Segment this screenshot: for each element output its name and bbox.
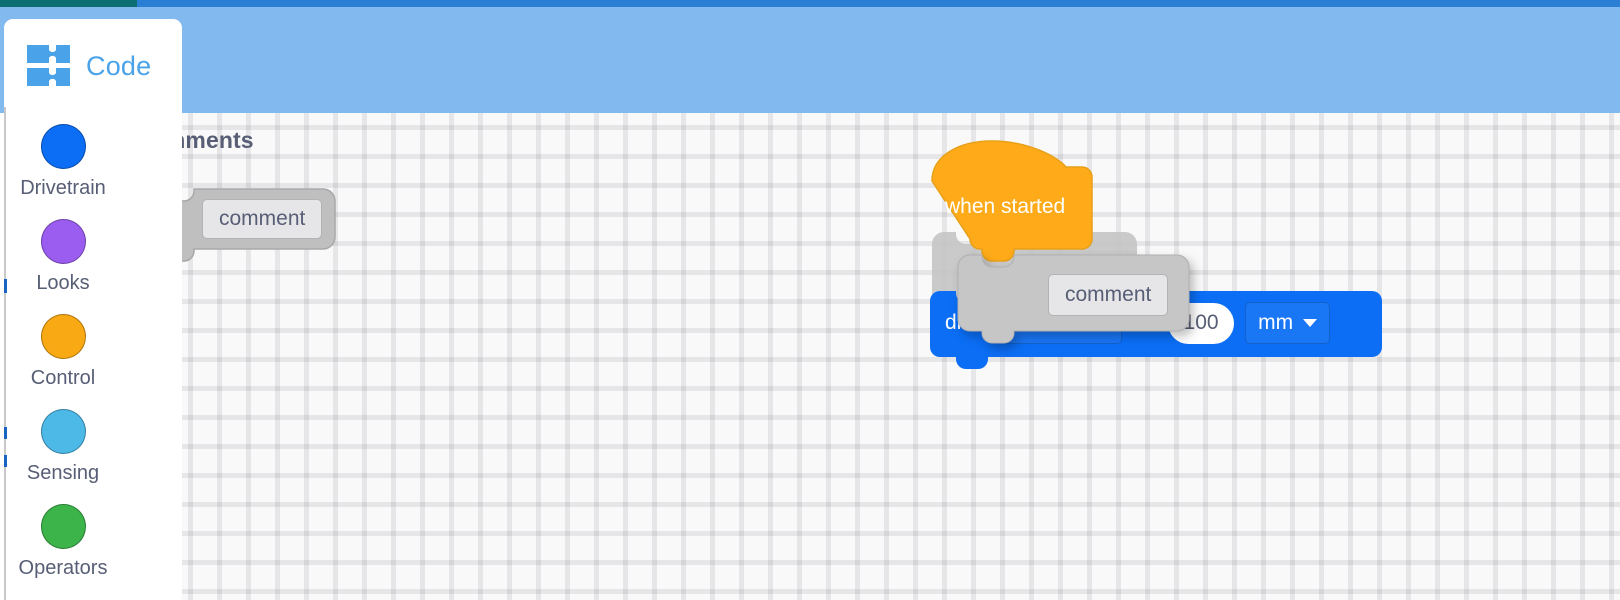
blocks-workspace[interactable]: Comments comment when started [118, 113, 1620, 600]
sidebar-item-label: Operators [19, 557, 108, 579]
app-header-bar [0, 6, 1620, 113]
chevron-down-icon [1303, 319, 1317, 327]
unit-value: mm [1258, 311, 1293, 335]
tab-code[interactable]: Code [4, 19, 182, 113]
sidebar-item-sensing[interactable]: Sensing [4, 409, 122, 504]
sidebar-item-label: Sensing [27, 462, 99, 484]
comment-text-field[interactable]: comment [202, 199, 322, 239]
block-when-started[interactable]: when started [930, 137, 1084, 247]
category-dot-icon [41, 219, 86, 264]
loading-progress-bar [0, 0, 137, 7]
sidebar-item-drivetrain[interactable]: Drivetrain [4, 124, 122, 219]
loading-progress-track [0, 0, 1620, 7]
sidebar-item-label: Control [31, 367, 95, 389]
category-list: Drivetrain Looks Control Sensing Operato… [4, 124, 122, 599]
left-panel: Code Drivetrain Looks Control Sensing [4, 19, 182, 600]
rail-mark [4, 279, 7, 293]
dragging-block-comment[interactable]: comment [956, 253, 1191, 335]
blocks-editor-app: Code Drivetrain Looks Control Sensing [0, 0, 1620, 600]
rail-mark [4, 455, 7, 467]
category-dot-icon [41, 124, 86, 169]
unit-dropdown[interactable]: mm [1245, 302, 1330, 344]
when-started-label: when started [945, 195, 1065, 219]
palette-scroll-rail[interactable] [4, 107, 6, 600]
sidebar-item-label: Drivetrain [20, 177, 106, 199]
category-dot-icon [41, 314, 86, 359]
sidebar-item-control[interactable]: Control [4, 314, 122, 409]
category-dot-icon [41, 504, 86, 549]
comment-text-field[interactable]: comment [1048, 274, 1168, 316]
category-dot-icon [41, 409, 86, 454]
sidebar-item-label: Looks [36, 272, 89, 294]
tab-code-label: Code [86, 51, 151, 82]
rail-mark [4, 427, 7, 439]
blocks-icon [25, 41, 73, 93]
sidebar-item-looks[interactable]: Looks [4, 219, 122, 314]
sidebar-item-operators[interactable]: Operators [4, 504, 122, 599]
